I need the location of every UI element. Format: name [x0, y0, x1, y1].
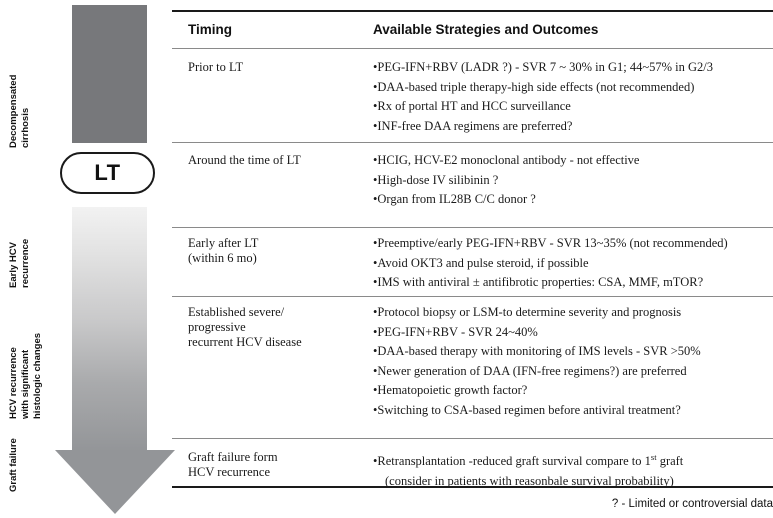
- table-row-items: •Protocol biopsy or LSM-to determine sev…: [373, 303, 773, 420]
- stage-label-line: histologic changes: [32, 289, 44, 419]
- table-row-timing: Prior to LT: [188, 60, 363, 75]
- row-divider: [172, 296, 773, 297]
- lt-marker-badge: LT: [60, 152, 155, 194]
- row-divider: [172, 227, 773, 228]
- timing-line: Established severe/: [188, 305, 363, 320]
- list-item: •PEG-IFN+RBV (LADR ?) - SVR 7 ~ 30% in G…: [373, 58, 773, 78]
- stage-label-decompensated-cirrhosis: Decompensated cirrhosis: [8, 8, 32, 148]
- list-item: •PEG-IFN+RBV - SVR 24~40%: [373, 323, 773, 343]
- timing-line: progressive: [188, 320, 363, 335]
- stage-label-early-hcv-recurrence: Early HCV recurrence: [8, 178, 32, 288]
- stage-label-line: Early HCV: [8, 178, 20, 288]
- timing-line: Graft failure form: [188, 450, 363, 465]
- timing-line: (within 6 mo): [188, 251, 363, 266]
- row-divider: [172, 438, 773, 439]
- lt-marker-label: LT: [94, 160, 120, 186]
- timeline-post-lt-gradient-block: [72, 207, 147, 452]
- stage-label-graft-failure: Graft failure: [8, 412, 20, 492]
- table-row-timing: Graft failure form HCV recurrence: [188, 450, 363, 480]
- table-top-rule: [172, 10, 773, 12]
- stage-label-hcv-recurrence-histologic: HCV recurrence with significant histolog…: [8, 289, 44, 419]
- column-header-strategies: Available Strategies and Outcomes: [373, 22, 598, 37]
- list-item: •INF-free DAA regimens are preferred?: [373, 117, 773, 137]
- stage-label-line: with significant: [20, 289, 32, 419]
- stage-label-line: Graft failure: [8, 412, 20, 492]
- list-item: •HCIG, HCV-E2 monoclonal antibody - not …: [373, 151, 773, 171]
- down-arrow-icon: [55, 450, 175, 514]
- timing-line: Early after LT: [188, 236, 363, 251]
- timing-line: Prior to LT: [188, 60, 363, 75]
- figure-footnote: ? - Limited or controversial data: [612, 498, 773, 510]
- stage-label-line: cirrhosis: [20, 8, 32, 148]
- stage-label-line: HCV recurrence: [8, 289, 20, 419]
- list-item: •DAA-based triple therapy-high side effe…: [373, 78, 773, 98]
- table-row-items: •Preemptive/early PEG-IFN+RBV - SVR 13~3…: [373, 234, 773, 293]
- list-item: •Organ from IL28B C/C donor ?: [373, 190, 773, 210]
- row-divider: [172, 142, 773, 143]
- stage-label-line: recurrence: [20, 178, 32, 288]
- timeline-pre-lt-block: [72, 5, 147, 143]
- list-item: •Retransplantation -reduced graft surviv…: [373, 448, 773, 472]
- strategies-table: Timing Available Strategies and Outcomes…: [172, 0, 773, 518]
- table-row-items: •Retransplantation -reduced graft surviv…: [373, 448, 773, 491]
- list-item: •Newer generation of DAA (IFN-free regim…: [373, 362, 773, 382]
- list-item: •DAA-based therapy with monitoring of IM…: [373, 342, 773, 362]
- timing-line: Around the time of LT: [188, 153, 363, 168]
- table-row-timing: Around the time of LT: [188, 153, 363, 168]
- header-bottom-rule: [172, 48, 773, 49]
- list-item: •Rx of portal HT and HCC surveillance: [373, 97, 773, 117]
- list-item: •Hematopoietic growth factor?: [373, 381, 773, 401]
- column-header-timing: Timing: [188, 22, 232, 37]
- timing-line: HCV recurrence: [188, 465, 363, 480]
- timing-line: recurrent HCV disease: [188, 335, 363, 350]
- list-item: •High-dose IV silibinin ?: [373, 171, 773, 191]
- table-row-timing: Established severe/ progressive recurren…: [188, 305, 363, 350]
- table-row-items: •PEG-IFN+RBV (LADR ?) - SVR 7 ~ 30% in G…: [373, 58, 773, 136]
- table-row-timing: Early after LT (within 6 mo): [188, 236, 363, 266]
- list-item: •Switching to CSA-based regimen before a…: [373, 401, 773, 421]
- list-item: (consider in patients with reasonbale su…: [373, 472, 773, 492]
- list-item: •IMS with antiviral ± antifibrotic prope…: [373, 273, 773, 293]
- list-item: •Avoid OKT3 and pulse steroid, if possib…: [373, 254, 773, 274]
- list-item: •Preemptive/early PEG-IFN+RBV - SVR 13~3…: [373, 234, 773, 254]
- list-item: •Protocol biopsy or LSM-to determine sev…: [373, 303, 773, 323]
- table-row-items: •HCIG, HCV-E2 monoclonal antibody - not …: [373, 151, 773, 210]
- stage-label-line: Decompensated: [8, 8, 20, 148]
